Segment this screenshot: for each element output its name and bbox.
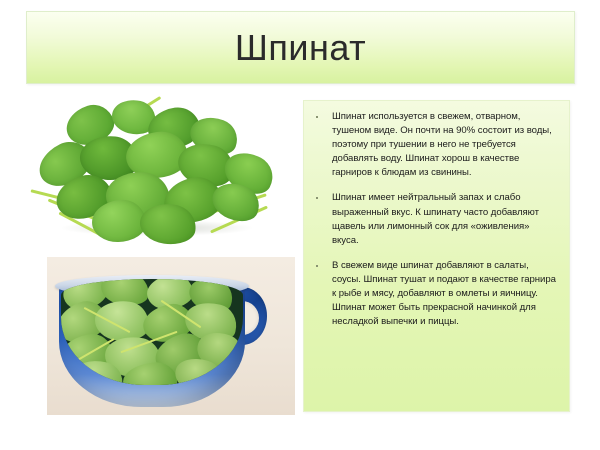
- list-item: Шпинат используется в свежем, отварном, …: [312, 110, 557, 180]
- pot-interior-with-spinach: [61, 279, 243, 385]
- bullet-list: Шпинат используется в свежем, отварном, …: [312, 110, 557, 329]
- list-item: Шпинат имеет нейтральный запах и слабо в…: [312, 191, 557, 247]
- content-text-panel: Шпинат используется в свежем, отварном, …: [303, 100, 570, 412]
- list-item: В свежем виде шпинат добавляют в салаты,…: [312, 259, 557, 329]
- slide-title-box: Шпинат: [26, 11, 575, 84]
- fresh-spinach-leaves-photo: [22, 92, 294, 260]
- spinach-in-blue-pot-photo: [47, 257, 295, 415]
- slide-canvas: Шпинат: [0, 0, 600, 450]
- page-title: Шпинат: [235, 28, 366, 68]
